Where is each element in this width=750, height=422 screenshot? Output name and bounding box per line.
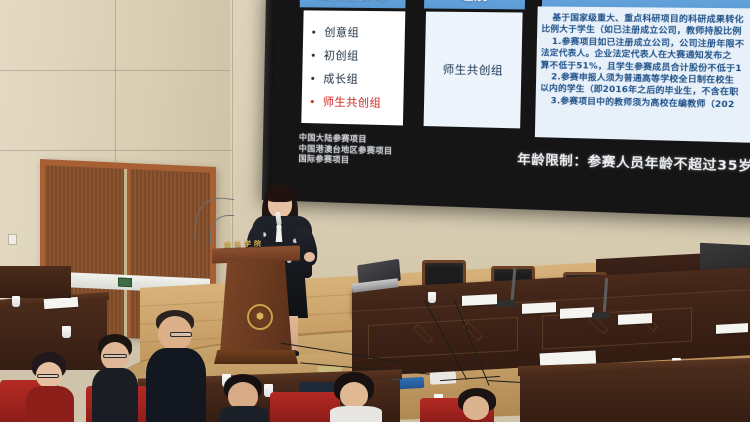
bullet-dot-icon [311,76,314,79]
person-head [463,396,489,420]
person-torso [26,386,74,422]
audience-member [28,352,72,422]
paper-cup [62,326,71,338]
paper-cup [12,296,20,307]
door-gap [124,169,127,338]
slide-card-criteria: 基于国家级重大、重点科研项目的科研成果转化 比例大于学生（如已注册成立公司，教师… [535,6,750,144]
power-adapter [430,371,457,384]
paper-cup [428,292,436,303]
paper-sheet [522,302,556,314]
eyeglasses-icon [103,354,127,358]
paper-sheet [716,323,748,334]
audience-member [220,374,268,422]
audience-member [92,334,138,422]
university-emblem-icon: ⬢ [247,304,273,330]
presenter-hand [304,252,315,262]
presenter-hair-fringe [265,186,295,202]
person-head [340,382,368,408]
podium-body: ⬢ [220,260,292,352]
list-item: 创意组 [312,24,405,41]
track-group-label: 初创组 [324,47,359,64]
slide-card-track-groups: 创意组 初创组 成长组 师生共创组 [301,10,405,125]
list-item: 初创组 [312,47,405,65]
wall-seam [115,0,116,170]
projection-screen: 高教主赛道 组别 创意组 初创组 [262,0,750,219]
audience-member [330,372,382,422]
bullet-dot-icon [312,30,315,33]
microphone-base [498,300,516,308]
list-item: 成长组 [311,70,404,88]
track-group-label: 创意组 [324,24,359,41]
person-torso [330,406,382,422]
microphone-base [592,312,610,320]
audience-desk [0,266,71,298]
conference-hall-scene: 高教主赛道 组别 创意组 初创组 [0,0,750,422]
podium: 商洛学院 ⬢ [214,247,298,369]
bullet-dot-icon [312,53,315,56]
person-torso [92,368,138,422]
track-group-label: 成长组 [323,70,358,87]
light-switch[interactable] [8,234,17,245]
slide-card-group: 师生共创组 [424,12,523,129]
paper-sheet [462,294,497,306]
track-group-list: 创意组 初创组 成长组 师生共创组 [302,10,406,111]
list-item-highlighted: 师生共创组 [311,93,404,111]
paper-sheet [560,307,594,319]
bullet-dot-icon [311,100,314,103]
person-torso [220,406,268,422]
audience-member [148,310,204,422]
group-cell-label: 师生共创组 [424,12,523,129]
audience-member [452,388,504,422]
podium-base [214,350,298,364]
wall-seam [0,150,232,151]
door-handle[interactable] [118,278,132,288]
audience-desk [520,368,750,422]
slide-header-track: 高教主赛道 [300,0,406,8]
paper-sheet [618,313,652,325]
slide-header-group: 组别 [424,0,525,9]
track-group-label-highlighted: 师生共创组 [323,93,382,110]
eyeglasses-icon [37,374,59,378]
eyeglasses-icon [170,332,192,337]
person-torso [146,348,206,422]
presentation-slide: 高教主赛道 组别 创意组 初创组 [272,0,750,219]
criteria-paragraph: 基于国家级重大、重点科研项目的科研成果转化 比例大于学生（如已注册成立公司，教师… [536,6,750,112]
